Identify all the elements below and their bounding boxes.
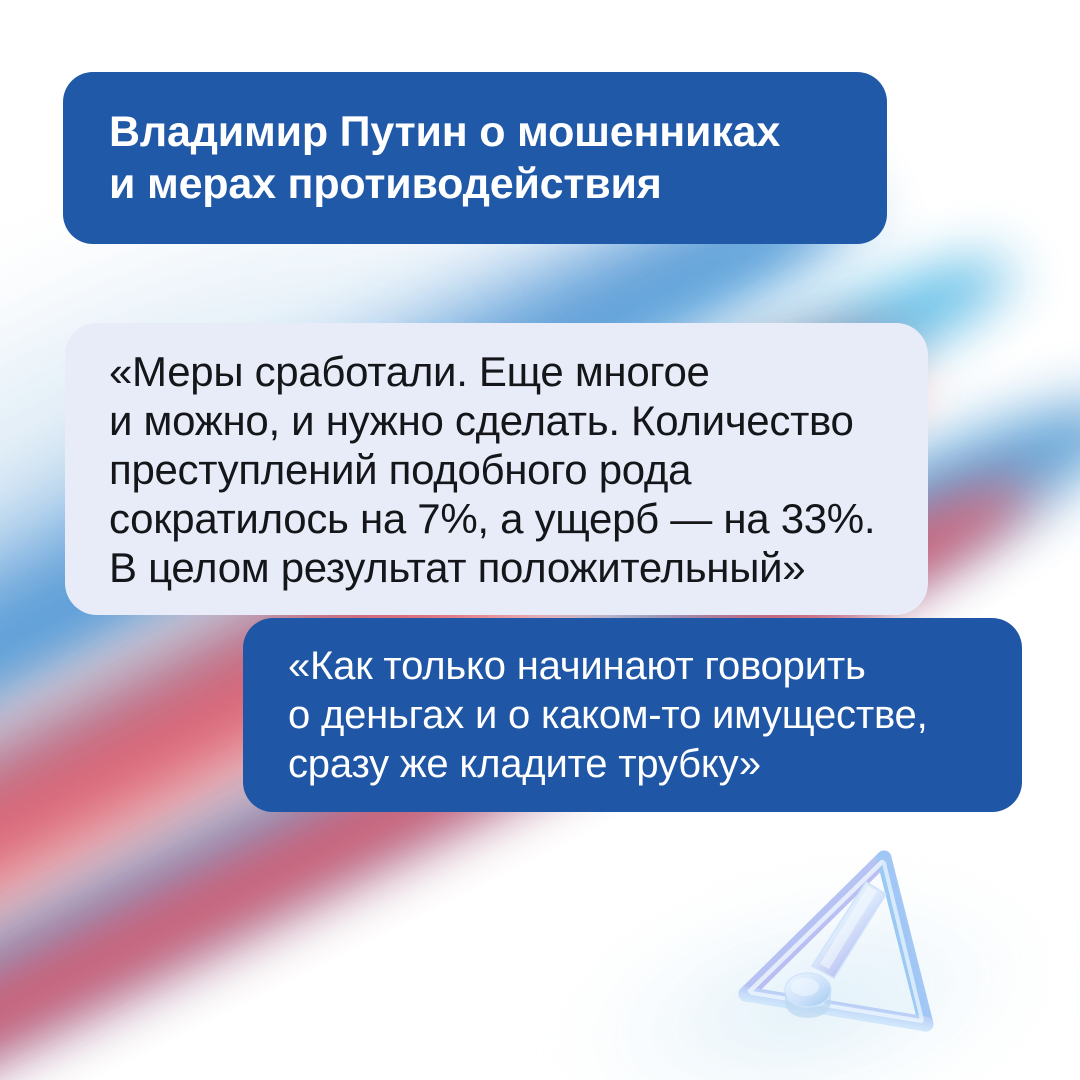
quote-light-line-3: преступлений подобного рода <box>109 446 691 493</box>
quote-blue-text: «Как только начинают говорить о деньгах … <box>288 642 928 789</box>
quote-light-line-5: В целом результат положительный» <box>109 544 805 591</box>
poster-canvas: Владимир Путин о мошенниках и мерах прот… <box>0 0 1080 1080</box>
quote-light-text: «Меры сработали. Еще многое и можно, и н… <box>109 347 875 592</box>
quote-blue-line-2: о деньгах и о каком-то имуществе, <box>288 693 928 737</box>
quote-blue-line-3: сразу же кладите трубку» <box>288 742 761 786</box>
quote-light-line-1: «Меры сработали. Еще многое <box>109 348 710 395</box>
quote-blue-line-1: «Как только начинают говорить <box>288 644 866 688</box>
quote-card-blue: «Как только начинают говорить о деньгах … <box>243 618 1022 812</box>
title-card: Владимир Путин о мошенниках и мерах прот… <box>63 72 887 244</box>
page-title-line-2: и мерах противодействия <box>109 160 662 208</box>
quote-light-line-4: сократилось на 7%, а ущерб — на 33%. <box>109 495 875 542</box>
quote-light-line-2: и можно, и нужно сделать. Количество <box>109 397 854 444</box>
page-title: Владимир Путин о мошенниках и мерах прот… <box>109 106 780 210</box>
page-title-line-1: Владимир Путин о мошенниках <box>109 108 780 156</box>
warning-triangle-icon <box>716 838 954 1064</box>
quote-card-light: «Меры сработали. Еще многое и можно, и н… <box>65 323 928 615</box>
